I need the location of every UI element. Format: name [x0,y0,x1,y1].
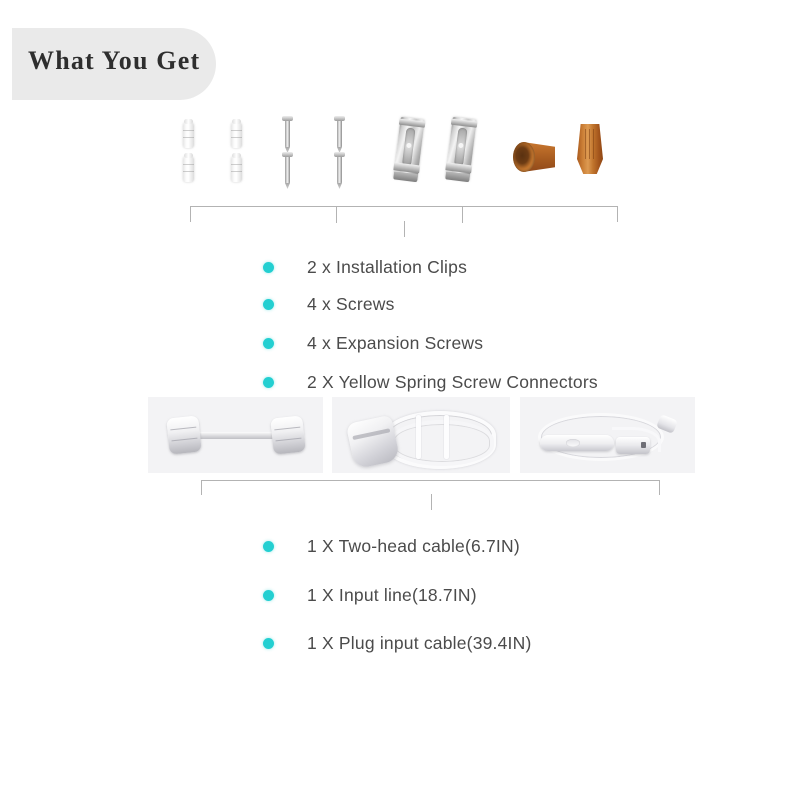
bullet-dot-icon [263,541,274,552]
hardware-bracket-stem [404,221,405,237]
expansion-anchor-icon [183,156,194,182]
list-item: 4 x Expansion Screws [263,323,598,364]
hardware-bullet-list: 2 x Installation Clips 4 x Screws 4 x Ex… [263,249,598,401]
hardware-group-bracket [190,206,618,222]
list-item: 1 X Input line(18.7IN) [263,570,531,620]
list-item-label: 1 X Two-head cable(6.7IN) [307,536,520,557]
two-head-cable-icon [148,397,323,473]
input-line-icon [332,397,510,473]
cable-group-bracket [201,480,660,495]
list-item-label: 1 X Input line(18.7IN) [307,585,477,606]
page-title: What You Get [28,46,200,76]
two-head-cable-photo [148,397,323,473]
bullet-dot-icon [263,638,274,649]
list-item-label: 2 X Yellow Spring Screw Connectors [307,372,598,393]
plug-input-cable-icon [520,397,695,473]
bullet-dot-icon [263,590,274,601]
list-item: 4 x Screws [263,286,598,323]
expansion-anchor-icon [231,156,242,182]
cable-bullet-list: 1 X Two-head cable(6.7IN) 1 X Input line… [263,523,531,667]
bullet-dot-icon [263,299,274,310]
list-item: 1 X Plug input cable(39.4IN) [263,620,531,667]
list-item-label: 4 x Expansion Screws [307,333,483,354]
installation-clip-icon [449,118,473,180]
list-item-label: 2 x Installation Clips [307,257,467,278]
list-item-label: 4 x Screws [307,294,395,315]
expansion-anchor-icon [183,122,194,148]
bullet-dot-icon [263,262,274,273]
list-item: 2 X Yellow Spring Screw Connectors [263,364,598,401]
cable-bracket-stem [431,494,432,510]
bullet-dot-icon [263,377,274,388]
list-item: 1 X Two-head cable(6.7IN) [263,523,531,570]
bracket-divider [462,207,463,223]
list-item-label: 1 X Plug input cable(39.4IN) [307,633,531,654]
bracket-divider [336,207,337,223]
list-item: 2 x Installation Clips [263,249,598,286]
wire-nut-side-icon [513,142,555,172]
input-line-photo [332,397,510,473]
plug-input-cable-photo [520,397,695,473]
expansion-anchor-icon [231,122,242,148]
bullet-dot-icon [263,338,274,349]
wire-nut-upright-icon [577,124,603,174]
installation-clip-icon [397,118,421,180]
hardware-parts-photo [165,112,630,194]
